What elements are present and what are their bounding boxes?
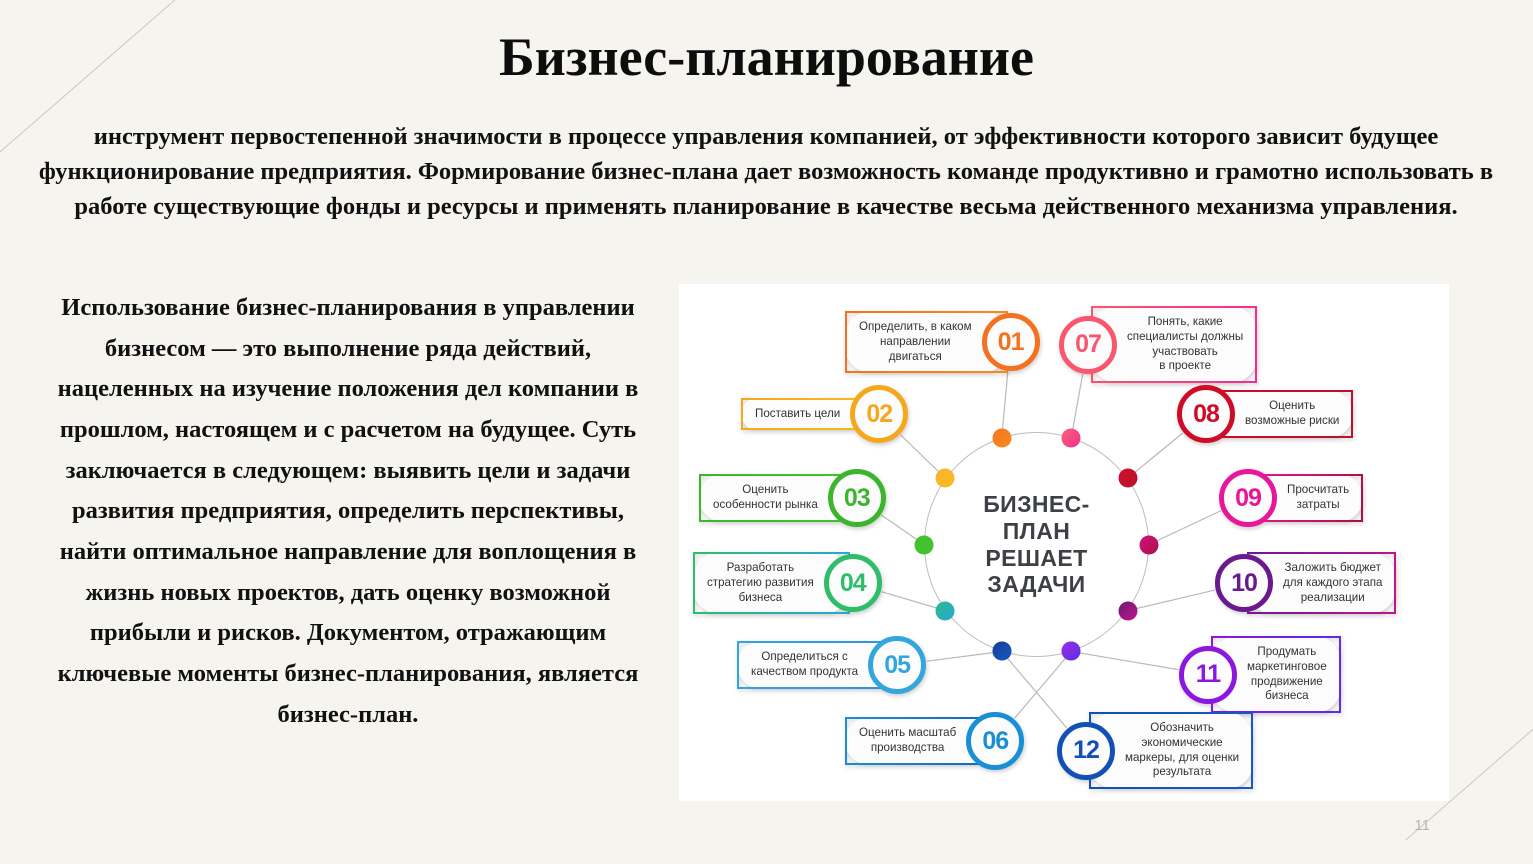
ring-dot-09 bbox=[1140, 535, 1159, 554]
diagram-item-08[interactable]: 08Оценить возможные риски bbox=[1177, 385, 1353, 443]
diagram-item-number-08: 08 bbox=[1177, 385, 1235, 443]
ring-dot-08 bbox=[1118, 469, 1137, 488]
ring-dot-04 bbox=[936, 601, 955, 620]
diagram-canvas: БИЗНЕС- ПЛАН РЕШАЕТ ЗАДАЧИ Определить, в… bbox=[679, 284, 1449, 801]
diagram-item-05[interactable]: Определиться с качеством продукта05 bbox=[737, 636, 926, 694]
diagram-item-number-02: 02 bbox=[850, 385, 908, 443]
diagram-item-number-12: 12 bbox=[1057, 722, 1115, 780]
diagram-item-02[interactable]: Поставить цели02 bbox=[741, 385, 908, 443]
diagram-item-number-03: 03 bbox=[828, 469, 886, 527]
connector-09 bbox=[1149, 511, 1221, 545]
ring-dot-03 bbox=[915, 535, 934, 554]
diagram-item-number-04: 04 bbox=[824, 554, 882, 612]
diagram-item-10[interactable]: 10Заложить бюджет для каждого этапа реал… bbox=[1215, 552, 1396, 614]
diagram-item-number-09: 09 bbox=[1219, 469, 1277, 527]
ring-dot-12 bbox=[992, 642, 1011, 661]
diagram-panel: БИЗНЕС- ПЛАН РЕШАЕТ ЗАДАЧИ Определить, в… bbox=[679, 284, 1449, 801]
page-number: 11 bbox=[1414, 817, 1430, 834]
ring-dot-07 bbox=[1062, 428, 1081, 447]
diagram-item-12[interactable]: 12Обозначить экономические маркеры, для … bbox=[1057, 712, 1253, 789]
diagram-item-number-07: 07 bbox=[1059, 316, 1117, 374]
diagram-item-09[interactable]: 09Просчитать затраты bbox=[1219, 469, 1363, 527]
ring-dot-10 bbox=[1118, 601, 1137, 620]
diagram-item-06[interactable]: Оценить масштаб производства06 bbox=[845, 712, 1024, 770]
diagram-item-07[interactable]: 07Понять, какие специалисты должны участ… bbox=[1059, 306, 1257, 383]
ring-dot-02 bbox=[936, 469, 955, 488]
diagram-item-number-10: 10 bbox=[1215, 554, 1273, 612]
center-label: БИЗНЕС- ПЛАН РЕШАЕТ ЗАДАЧИ bbox=[924, 432, 1149, 657]
intro-paragraph: инструмент первостепенной значимости в п… bbox=[26, 120, 1506, 224]
connector-06 bbox=[1015, 651, 1072, 718]
diagram-item-04[interactable]: Разработать стратегию развития бизнеса04 bbox=[693, 552, 882, 614]
ring-dot-01 bbox=[992, 428, 1011, 447]
body-paragraph: Использование бизнес-планирования в упра… bbox=[48, 288, 648, 735]
diagram-item-11[interactable]: 11Продумать маркетинговое продвижение би… bbox=[1179, 636, 1341, 713]
diagram-item-number-01: 01 bbox=[982, 313, 1040, 371]
diagram-item-03[interactable]: Оценить особенности рынка03 bbox=[699, 469, 886, 527]
diagram-item-number-06: 06 bbox=[966, 712, 1024, 770]
diagram-item-01[interactable]: Определить, в каком направлении двигатьс… bbox=[845, 311, 1040, 373]
ring-dot-11 bbox=[1062, 642, 1081, 661]
page-title: Бизнес-планирование bbox=[0, 28, 1533, 87]
diagram-item-number-05: 05 bbox=[868, 636, 926, 694]
diagram-item-number-11: 11 bbox=[1179, 646, 1237, 704]
